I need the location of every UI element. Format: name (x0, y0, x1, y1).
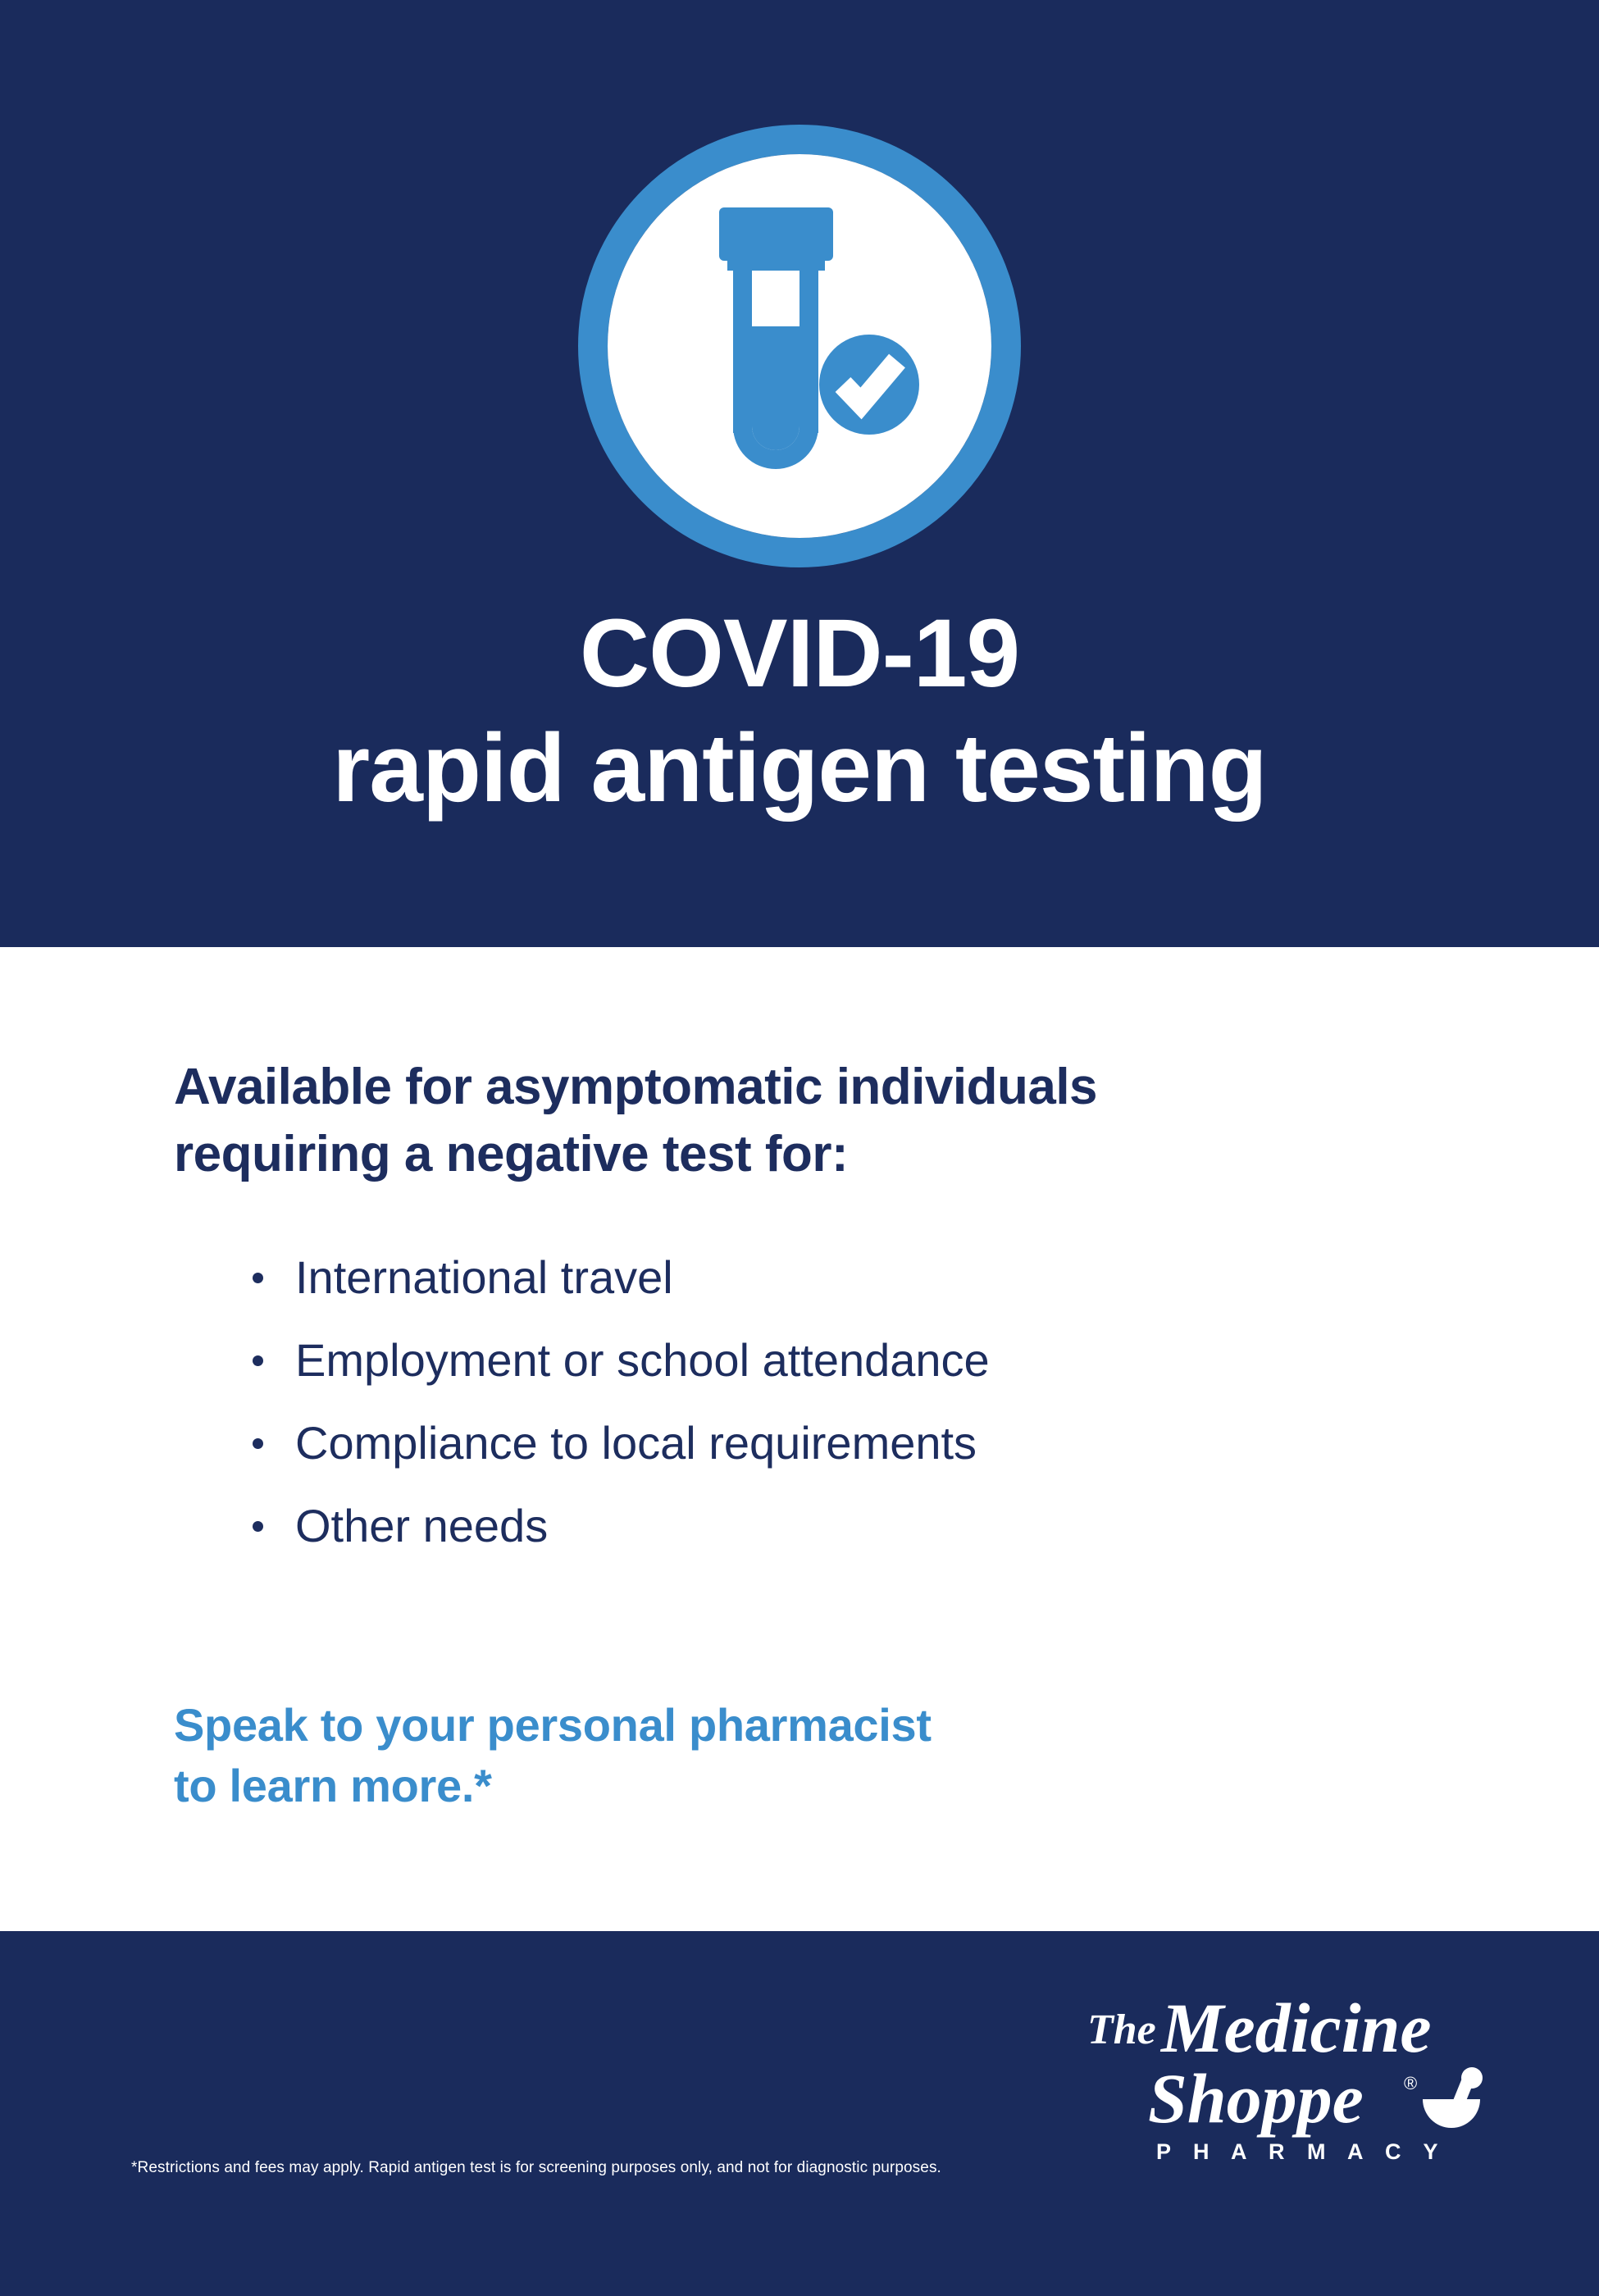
poster-root: COVID-19 rapid antigen testing Available… (0, 0, 1599, 2296)
cta-line-1: Speak to your personal pharmacist (174, 1695, 1404, 1756)
bullet-dot-icon (253, 1438, 263, 1449)
bullet-dot-icon (253, 1521, 263, 1532)
svg-text:P H A R M A C Y: P H A R M A C Y (1156, 2139, 1446, 2164)
main-content: Available for asymptomatic individuals r… (0, 947, 1599, 1931)
list-item: Employment or school attendance (246, 1337, 1435, 1383)
title-line-2: rapid antigen testing (0, 720, 1599, 817)
call-to-action: Speak to your personal pharmacist to lea… (174, 1695, 1404, 1816)
medicine-shoppe-logo: The Medicine Shoppe ® P H A R M A C Y (1073, 1993, 1507, 2169)
svg-text:Shoppe: Shoppe (1148, 2059, 1364, 2138)
list-item-label: Other needs (295, 1500, 548, 1551)
page-title: COVID-19 rapid antigen testing (0, 605, 1599, 817)
lead-paragraph: Available for asymptomatic individuals r… (174, 1054, 1486, 1189)
svg-text:Medicine: Medicine (1159, 1993, 1432, 2067)
footer-band: The Medicine Shoppe ® P H A R M A C Y *R… (0, 1931, 1599, 2296)
test-tube-check-icon (578, 125, 1021, 567)
bullet-dot-icon (253, 1273, 263, 1283)
header-band: COVID-19 rapid antigen testing (0, 0, 1599, 947)
svg-text:The: The (1087, 2007, 1156, 2053)
list-item: Other needs (246, 1503, 1435, 1549)
list-item-label: Compliance to local requirements (295, 1417, 977, 1469)
svg-text:®: ® (1404, 2073, 1417, 2093)
lead-line-1: Available for asymptomatic individuals (174, 1054, 1486, 1121)
title-line-1: COVID-19 (0, 605, 1599, 702)
footnote-disclaimer: *Restrictions and fees may apply. Rapid … (131, 2159, 941, 2177)
list-item-label: International travel (295, 1251, 673, 1303)
cta-line-2: to learn more.* (174, 1756, 1404, 1816)
list-item-label: Employment or school attendance (295, 1334, 990, 1386)
list-item: Compliance to local requirements (246, 1420, 1435, 1466)
lead-line-2: requiring a negative test for: (174, 1121, 1486, 1188)
eligibility-list: International travel Employment or schoo… (246, 1255, 1435, 1586)
bullet-dot-icon (253, 1355, 263, 1366)
list-item: International travel (246, 1255, 1435, 1301)
